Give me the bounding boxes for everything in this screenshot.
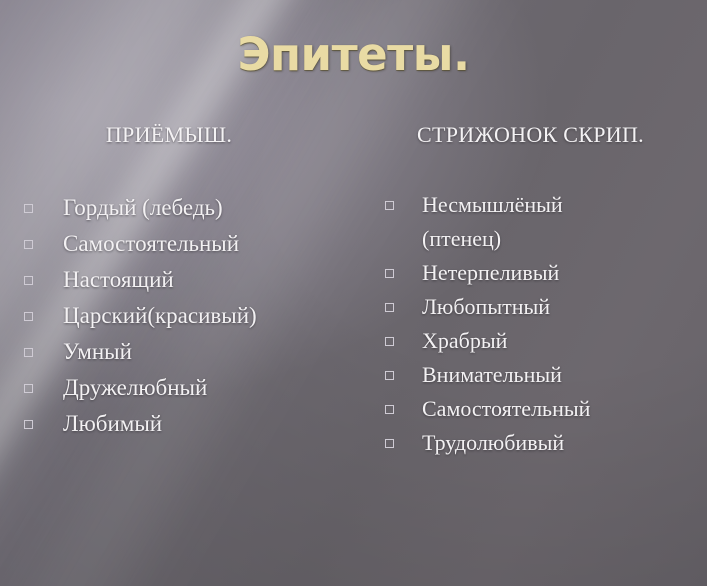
list-item: Умный [6,334,354,370]
column-right-bullet-list: Несмышлёный (птенец) Нетерпеливый Любопы… [360,188,707,460]
list-item-label: Храбрый [422,324,707,358]
list-item-label: Гордый (лебедь) [63,190,354,226]
list-item-label: Нетерпеливый [422,256,707,290]
square-bullet-icon [24,240,33,249]
square-bullet-icon [24,420,33,429]
square-bullet-icon [24,276,33,285]
list-item-label: Трудолюбивый [422,426,707,460]
square-bullet-icon [385,201,394,210]
list-item-label: Несмышлёный [422,188,707,222]
square-bullet-icon [385,269,394,278]
square-bullet-icon [385,439,394,448]
slide-content: Эпитеты. ПРИЁМЫШ. Гордый (лебедь) Самост… [0,0,707,586]
list-item-label: Самостоятельный [422,392,707,426]
square-bullet-icon [385,371,394,380]
square-bullet-icon [385,303,394,312]
list-item: Любопытный [360,290,707,324]
list-item: Несмышлёный (птенец) [360,188,707,256]
square-bullet-icon [385,337,394,346]
list-item: Трудолюбивый [360,426,707,460]
list-item: Самостоятельный [360,392,707,426]
column-right-header: СТРИЖОНОК СКРИП. [360,120,707,150]
slide-title: Эпитеты. [0,28,707,82]
column-right: СТРИЖОНОК СКРИП. Несмышлёный (птенец) Не… [360,120,707,460]
list-item: Храбрый [360,324,707,358]
list-item: Дружелюбный [6,370,354,406]
square-bullet-icon [24,312,33,321]
list-item: Гордый (лебедь) [6,190,354,226]
column-left: ПРИЁМЫШ. Гордый (лебедь) Самостоятельный… [6,120,354,442]
list-item: Самостоятельный [6,226,354,262]
list-item-label: Внимательный [422,358,707,392]
list-item-label: Самостоятельный [63,226,354,262]
column-left-bullet-list: Гордый (лебедь) Самостоятельный Настоящи… [6,190,354,442]
list-item: Нетерпеливый [360,256,707,290]
square-bullet-icon [24,204,33,213]
list-item-label: Любопытный [422,290,707,324]
square-bullet-icon [24,384,33,393]
list-item: Настоящий [6,262,354,298]
list-item-label: Дружелюбный [63,370,354,406]
list-item-label: Умный [63,334,354,370]
list-item: Любимый [6,406,354,442]
list-item-label: Любимый [63,406,354,442]
list-item: Внимательный [360,358,707,392]
square-bullet-icon [385,405,394,414]
list-item-label: Настоящий [63,262,354,298]
list-item-label: Царский(красивый) [63,298,354,334]
column-left-header: ПРИЁМЫШ. [6,120,354,150]
list-item: Царский(красивый) [6,298,354,334]
presentation-slide: Эпитеты. ПРИЁМЫШ. Гордый (лебедь) Самост… [0,0,707,586]
square-bullet-icon [24,348,33,357]
list-item-label-continued: (птенец) [422,222,707,256]
